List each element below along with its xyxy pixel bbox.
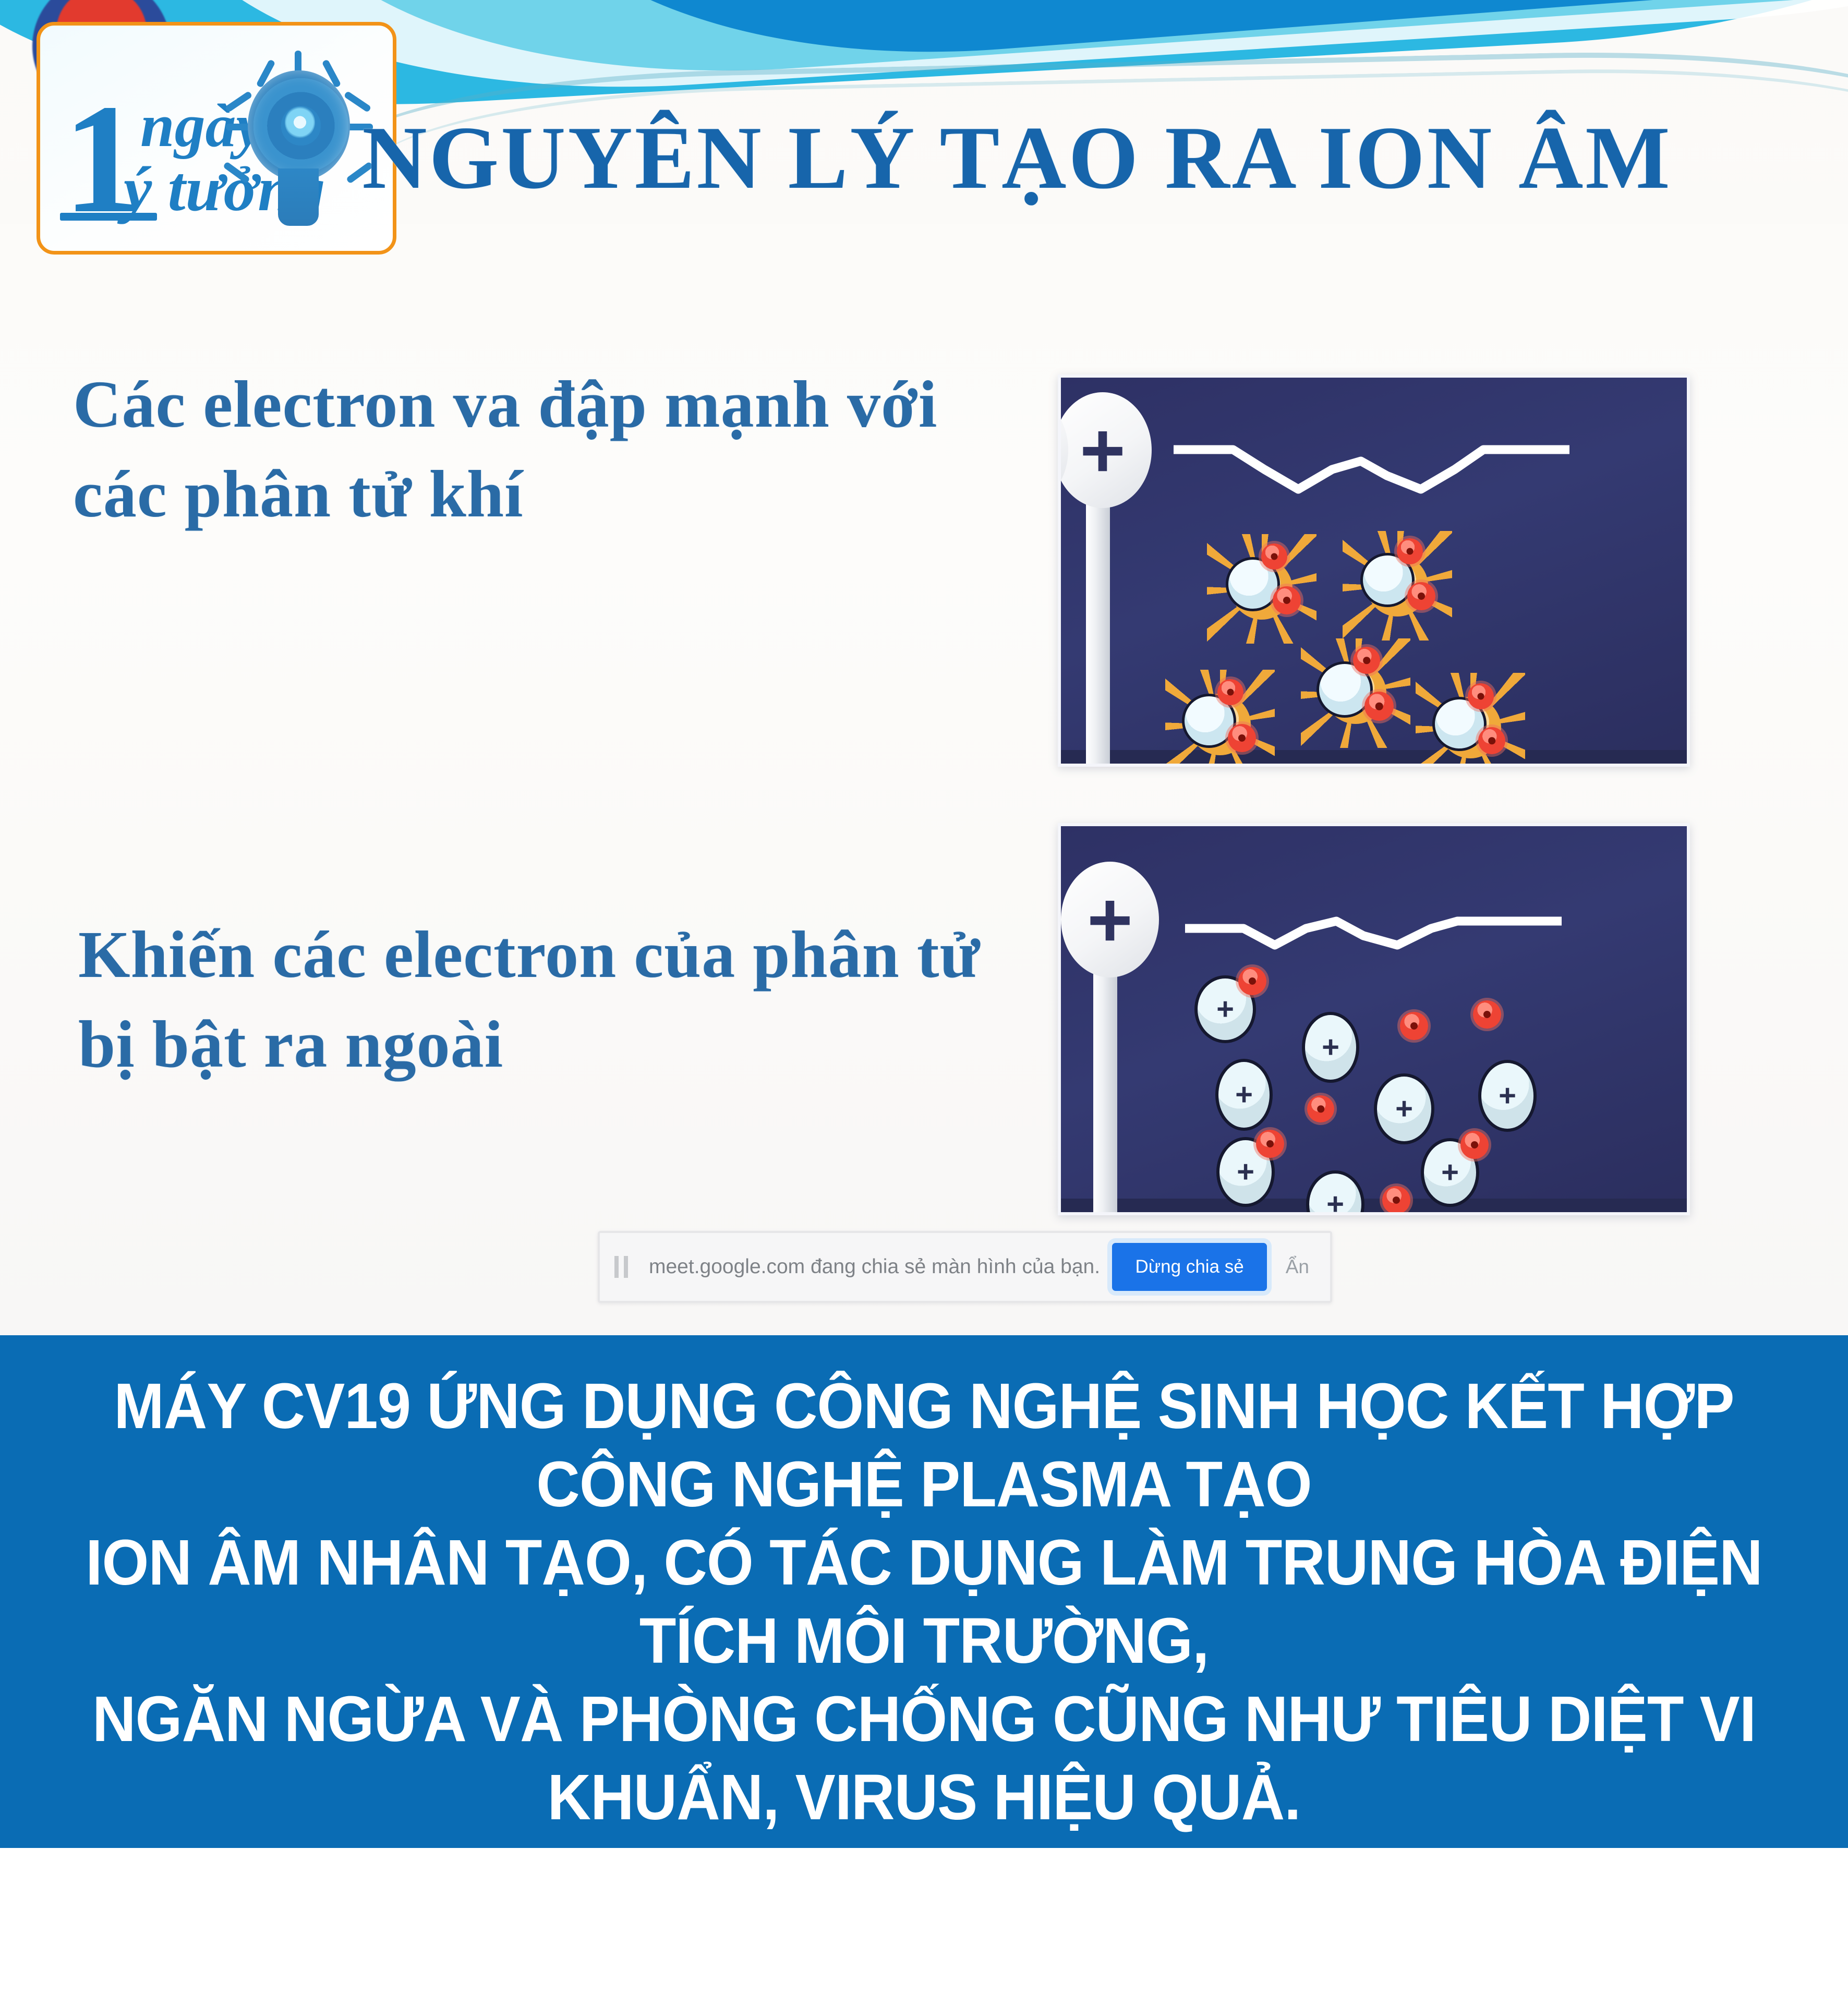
gas-ion: + — [1374, 1073, 1434, 1144]
electron-collision-diagram: + − — [1058, 374, 1690, 767]
gas-ion: + — [1215, 1059, 1273, 1131]
step-1-description: Các electron va đập mạnh với các phân tử… — [73, 360, 1012, 539]
banner-line-2: ION ÂM NHÂN TẠO, CÓ TÁC DỤNG LÀM TRUNG H… — [55, 1524, 1792, 1681]
free-electron — [1256, 1130, 1284, 1158]
page-title: NGUYÊN LÝ TẠO RA ION ÂM — [292, 107, 1742, 210]
free-electron — [1473, 1000, 1501, 1029]
slide-canvas: 1 ngày ý tưởng NGUYÊN LÝ TẠO RA ION ÂM C… — [0, 0, 1848, 1335]
screen-share-bar: meet.google.com đang chia sẻ màn hình củ… — [598, 1231, 1332, 1303]
banner-line-3: NGĂN NGỪA VÀ PHÒNG CHỐNG CŨNG NHƯ TIÊU D… — [55, 1681, 1792, 1837]
gas-ion: + — [1306, 1170, 1364, 1215]
stop-sharing-button[interactable]: Dừng chia sẻ — [1112, 1243, 1266, 1291]
collision-burst — [1416, 673, 1525, 767]
hide-bar-button[interactable]: Ẩn — [1283, 1255, 1312, 1278]
share-message: meet.google.com đang chia sẻ màn hình củ… — [649, 1255, 1112, 1278]
free-electron — [1307, 1095, 1334, 1122]
banner-subline-2: kiểm nghiệm ngày 23/8/2021. — [55, 1925, 1792, 1994]
collision-burst — [1207, 534, 1316, 644]
free-electron — [1400, 1012, 1428, 1040]
free-electron — [1382, 1186, 1410, 1214]
collision-burst — [1343, 531, 1452, 641]
collision-burst — [1165, 670, 1275, 767]
ion-formation-diagram: + − + + + + + — [1058, 823, 1690, 1215]
banner-line-1: MÁY CV19 ỨNG DỤNG CÔNG NGHỆ SINH HỌC KẾT… — [55, 1368, 1792, 1524]
free-electron — [1238, 967, 1266, 995]
gas-ion: + — [1302, 1012, 1359, 1083]
pause-icon — [614, 1256, 628, 1278]
collision-burst — [1301, 638, 1410, 748]
gas-ion: + — [1478, 1060, 1537, 1132]
discharge-wire — [1061, 826, 1682, 1212]
step-2-description: Khiến các electron của phân tử bị bật ra… — [78, 910, 1054, 1089]
banner-subline-1: Khả năng diệt khuẩn của máy đã được Viện… — [55, 1846, 1792, 1916]
info-banner: MÁY CV19 ỨNG DỤNG CÔNG NGHỆ SINH HỌC KẾT… — [0, 1335, 1848, 1848]
free-electron — [1460, 1131, 1489, 1159]
